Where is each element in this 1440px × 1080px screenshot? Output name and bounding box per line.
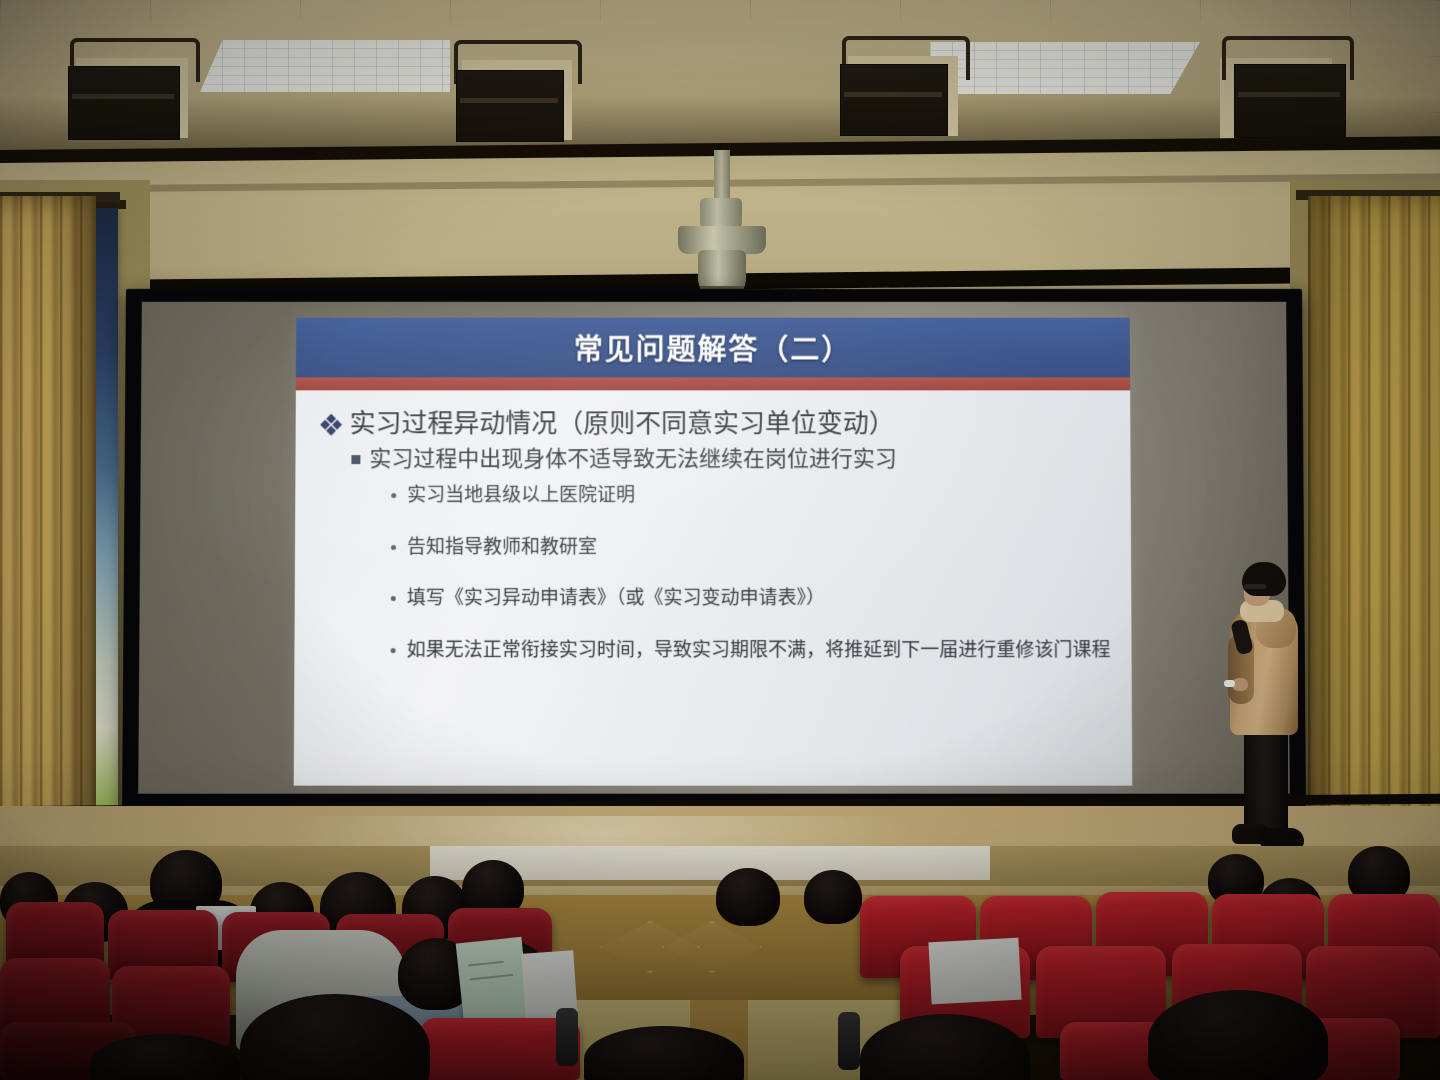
audience-notebook [456, 937, 531, 1029]
projected-slide: 常见问题解答（二） 实习过程异动情况（原则不同意实习单位变动） 实习过程中出现身… [294, 318, 1133, 786]
bullet-level2: 实习过程中出现身体不适导致无法继续在岗位进行实习 [351, 446, 1110, 475]
bullet-text: 告知指导教师和教研室 [407, 535, 1111, 561]
seat-armrest [838, 1012, 860, 1070]
bullet-text: 实习过程中出现身体不适导致无法继续在岗位进行实习 [369, 446, 1110, 475]
bullet-text: 实习当地县级以上医院证明 [407, 483, 1111, 509]
audience-head [804, 870, 862, 924]
bullet-level3: 告知指导教师和教研室 [391, 535, 1111, 561]
seat-armrest [556, 1008, 578, 1066]
presenter-clicker [1224, 680, 1235, 687]
filled-square-bullet-icon [351, 455, 360, 464]
stage-curtain-right [1308, 196, 1440, 860]
projection-screen: 常见问题解答（二） 实习过程异动情况（原则不同意实习单位变动） 实习过程中出现身… [122, 289, 1306, 813]
bullet-text: 填写《实习异动申请表》（或《实习变动申请表》） [407, 586, 1112, 612]
presenter-legs [1244, 728, 1288, 832]
projection-screen-surface: 常见问题解答（二） 实习过程异动情况（原则不同意实习单位变动） 实习过程中出现身… [138, 302, 1290, 794]
diamond-cluster-bullet-icon [322, 415, 341, 434]
spotlight-icon [836, 36, 976, 141]
spotlight-icon [1212, 36, 1358, 144]
spotlight-icon [448, 40, 588, 145]
small-dot-bullet-icon [391, 493, 396, 498]
audience-head [716, 868, 780, 926]
audience-head [1148, 990, 1328, 1080]
small-dot-bullet-icon [391, 596, 396, 601]
audience-area [0, 846, 1440, 1080]
bullet-level3: 填写《实习异动申请表》（或《实习变动申请表》） [391, 586, 1112, 612]
slide-title-bar: 常见问题解答（二） [296, 318, 1130, 378]
auditorium-scene: 常见问题解答（二） 实习过程异动情况（原则不同意实习单位变动） 实习过程中出现身… [0, 0, 1440, 1080]
bullet-level3: 实习当地县级以上医院证明 [391, 483, 1111, 509]
stage-curtain-left [0, 196, 96, 856]
presenter-shoe [1260, 828, 1304, 848]
audience-head [584, 1026, 744, 1080]
spotlight-icon [62, 38, 202, 143]
bullet-level1: 实习过程异动情况（原则不同意实习单位变动） [322, 408, 1111, 441]
bullet-level3: 如果无法正常衔接实习时间，导致实习期限不满，将推延到下一届进行重修该门课程 [391, 638, 1112, 664]
slide-title: 常见问题解答（二） [574, 327, 852, 369]
dome-camera-icon [700, 150, 742, 228]
slide-body: 实习过程异动情况（原则不同意实习单位变动） 实习过程中出现身体不适导致无法继续在… [294, 390, 1133, 785]
glasses-icon [1244, 584, 1266, 589]
small-dot-bullet-icon [391, 648, 396, 653]
presenter-hair [1242, 562, 1286, 596]
audience-paper [928, 938, 1021, 1005]
slide-accent-bar [296, 377, 1130, 390]
presenter [1218, 562, 1310, 862]
fluorescent-troffer-icon [200, 40, 450, 92]
small-dot-bullet-icon [391, 545, 396, 550]
bullet-text: 实习过程异动情况（原则不同意实习单位变动） [350, 408, 1111, 441]
bullet-text: 如果无法正常衔接实习时间，导致实习期限不满，将推延到下一届进行重修该门课程 [407, 638, 1112, 664]
